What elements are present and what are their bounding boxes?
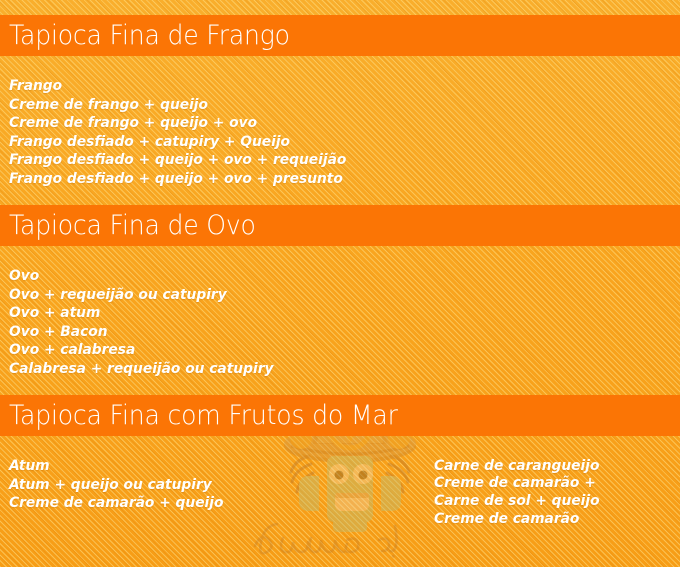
section-header-ovo: Tapioca Fina de Ovo: [0, 205, 680, 246]
menu-item: Calabresa + requeijão ou catupiry: [9, 360, 646, 379]
menu-item: Ovo + Bacon: [9, 323, 646, 342]
menu-item: Creme de camarão: [434, 510, 600, 528]
menu-section-ovo: Tapioca Fina de Ovo Ovo Ovo + requeijão …: [0, 205, 680, 379]
menu-item: Atum + queijo ou catupiry: [9, 476, 223, 495]
menu-item: Frango desfiado + queijo + ovo + requeij…: [9, 151, 646, 170]
section-body-ovo: Ovo Ovo + requeijão ou catupiry Ovo + at…: [0, 246, 680, 379]
menu-section-frango: Tapioca Fina de Frango Frango Creme de f…: [0, 15, 680, 189]
menu-item: Carne de carangueijo: [434, 457, 600, 475]
section-body-frutos-do-mar: Atum Atum + queijo ou catupiry Creme de …: [0, 436, 680, 567]
menu-item: Ovo + requeijão ou catupiry: [9, 286, 646, 305]
menu-item: Frango: [9, 77, 646, 96]
section-header-frutos-do-mar: Tapioca Fina com Frutos do Mar: [0, 395, 680, 436]
menu-item: Carne de sol + queijo: [434, 492, 600, 510]
menu-item: Atum: [9, 457, 223, 476]
menu-item: Ovo: [9, 267, 646, 286]
menu-item-list-right: Carne de carangueijo Creme de camarão + …: [434, 457, 608, 528]
menu-item-list-left: Atum Atum + queijo ou catupiry Creme de …: [9, 457, 235, 513]
menu-item: Frango desfiado + catupiry + Queijo: [9, 133, 646, 152]
menu-item: Creme de camarão + queijo: [9, 494, 223, 513]
menu-item: Creme de camarão +: [434, 475, 600, 492]
section-body-frango: Frango Creme de frango + queijo Creme de…: [0, 56, 680, 189]
section-title: Tapioca Fina de Ovo: [9, 212, 256, 239]
menu-item: Creme de frango + queijo: [9, 96, 646, 115]
menu-item: Frango desfiado + queijo + ovo + presunt…: [9, 170, 646, 189]
menu-item: Creme de frango + queijo + ovo: [9, 114, 646, 133]
menu-item: Ovo + atum: [9, 304, 646, 323]
menu-item: Ovo + calabresa: [9, 341, 646, 360]
two-column-item-layout: Atum Atum + queijo ou catupiry Creme de …: [9, 457, 680, 567]
tapioca-menu-board: Tapioca Fina de Frango Frango Creme de f…: [0, 0, 680, 567]
menu-item-list: Ovo Ovo + requeijão ou catupiry Ovo + at…: [9, 267, 680, 379]
section-title: Tapioca Fina com Frutos do Mar: [9, 402, 398, 429]
menu-item-list: Frango Creme de frango + queijo Creme de…: [9, 77, 680, 189]
section-header-frango: Tapioca Fina de Frango: [0, 15, 680, 56]
section-title: Tapioca Fina de Frango: [9, 22, 290, 49]
menu-section-frutos-do-mar: Tapioca Fina com Frutos do Mar Atum Atum…: [0, 395, 680, 567]
